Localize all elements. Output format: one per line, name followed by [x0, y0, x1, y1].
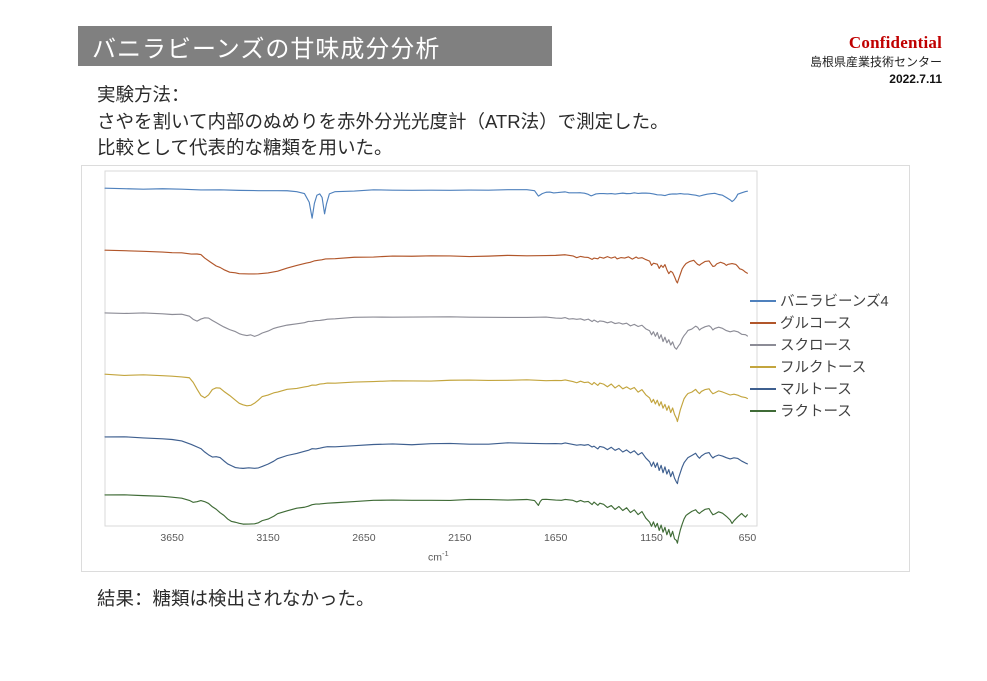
header-meta: Confidential 島根県産業技術センター 2022.7.11 — [810, 32, 942, 87]
spectrum-line — [105, 313, 747, 349]
legend-item[interactable]: スクロース — [750, 336, 889, 353]
x-axis-tick-label: 2150 — [448, 532, 471, 544]
spectra-chart-panel: バニラビーンズ4グルコーススクロースフルクトースマルトースラクトース 36503… — [81, 165, 910, 572]
legend-label: グルコース — [780, 312, 852, 333]
legend-color-swatch — [750, 388, 776, 390]
page-title: バニラビーンズの甘味成分分析 — [78, 29, 440, 64]
legend-color-swatch — [750, 322, 776, 324]
legend-item[interactable]: バニラビーンズ4 — [750, 292, 889, 309]
legend-item[interactable]: ラクトース — [750, 402, 889, 419]
method-line-3: 比較として代表的な糖類を用いた。 — [97, 135, 669, 162]
spectrum-line — [105, 437, 747, 484]
method-line-2: さやを割いて内部のぬめりを赤外分光光度計（ATR法）で測定した。 — [97, 109, 669, 136]
slide-title-banner: バニラビーンズの甘味成分分析 — [78, 26, 552, 66]
legend-label: フルクトース — [780, 356, 866, 377]
x-axis-title: cm-1 — [428, 549, 449, 564]
legend-item[interactable]: フルクトース — [750, 358, 889, 375]
date-label: 2022.7.11 — [810, 72, 942, 87]
legend-color-swatch — [750, 366, 776, 368]
result-text: 結果：糖類は検出されなかった。 — [97, 585, 375, 611]
legend-color-swatch — [750, 410, 776, 412]
spectrum-line — [105, 188, 747, 218]
legend-label: ラクトース — [780, 400, 852, 421]
legend-color-swatch — [750, 344, 776, 346]
legend-label: マルトース — [780, 378, 852, 399]
organization-label: 島根県産業技術センター — [810, 55, 942, 70]
x-axis-tick-label: 2650 — [352, 532, 375, 544]
legend-label: スクロース — [780, 334, 852, 355]
x-axis-tick-label: 1150 — [640, 532, 663, 544]
x-axis-tick-label: 3650 — [160, 532, 183, 544]
method-text-block: 実験方法： さやを割いて内部のぬめりを赤外分光光度計（ATR法）で測定した。 比… — [97, 82, 669, 162]
legend-item[interactable]: マルトース — [750, 380, 889, 397]
legend-color-swatch — [750, 300, 776, 302]
x-axis-tick-label: 3150 — [256, 532, 279, 544]
confidential-badge: Confidential — [810, 32, 942, 53]
chart-legend: バニラビーンズ4グルコーススクロースフルクトースマルトースラクトース — [750, 292, 889, 419]
x-axis-tick-label: 1650 — [544, 532, 567, 544]
method-line-1: 実験方法： — [97, 82, 669, 109]
legend-label: バニラビーンズ4 — [780, 290, 889, 311]
x-axis-tick-label: 650 — [739, 532, 757, 544]
spectrum-line — [105, 250, 747, 283]
spectrum-line — [105, 374, 747, 421]
legend-item[interactable]: グルコース — [750, 314, 889, 331]
